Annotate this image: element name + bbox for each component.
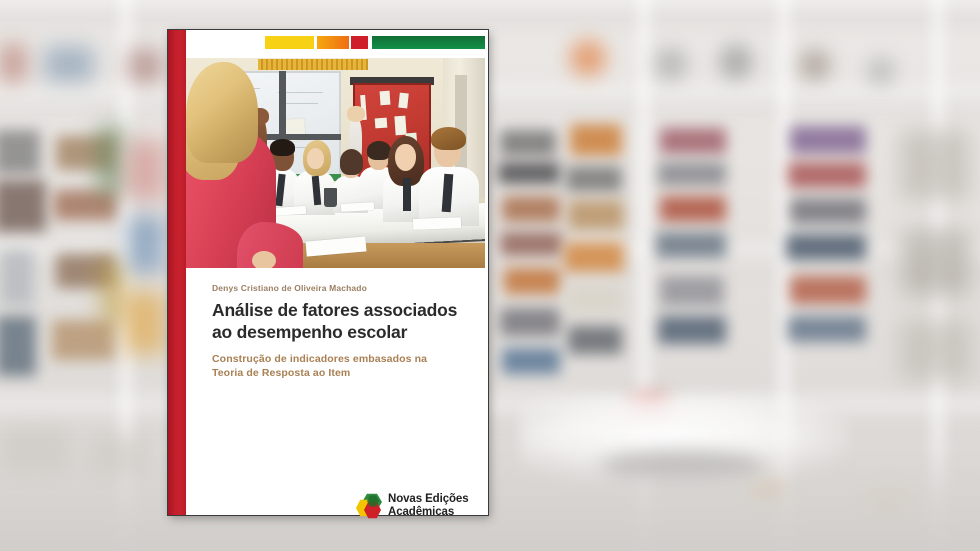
photo-student-3-hair — [340, 149, 363, 174]
photo-desk-mug — [324, 188, 337, 207]
photo-teacher-hand — [252, 251, 276, 268]
bg-book-l2 — [0, 180, 46, 232]
bg-book-l10 — [100, 260, 126, 324]
cover-subtitle-line-1: Construção de indicadores embasados na — [212, 353, 427, 365]
photo-student-2-face — [307, 148, 323, 169]
bg-book-r5 — [660, 276, 724, 306]
bg-item-gray-top-3 — [868, 58, 894, 84]
bg-book-l1 — [0, 130, 40, 174]
bg-book-m1 — [500, 130, 556, 156]
photo-student-6-hair — [431, 127, 465, 150]
product-image-canvas: Denys Cristiano de Oliveira Machado Anál… — [0, 0, 980, 551]
bg-book-m7 — [502, 348, 560, 374]
bg-book-m5 — [504, 268, 560, 294]
bg-book-r12 — [788, 316, 866, 342]
publisher-name-line-2: Acadêmicas — [388, 506, 454, 518]
bg-book-l11 — [126, 140, 166, 200]
cover-subtitle: Construção de indicadores embasados na T… — [212, 352, 466, 380]
photo-paper-2 — [341, 202, 374, 212]
bg-book-r10 — [786, 234, 866, 260]
bg-book-l9 — [96, 126, 126, 196]
bg-book-m9 — [566, 166, 622, 192]
bg-book-m11 — [564, 242, 624, 272]
photo-wall-ruler-strip — [258, 59, 369, 70]
colorbar-segment-green — [372, 36, 485, 49]
bg-book-r6 — [658, 316, 726, 344]
bg-item-left-top-1 — [0, 44, 26, 82]
bg-book-l8 — [52, 320, 114, 360]
colorbar-segment-red — [351, 36, 368, 49]
novas-edicoes-academicas-logo-icon — [356, 493, 382, 519]
blurred-library-background — [0, 0, 980, 551]
bg-book-m4 — [500, 232, 562, 256]
bg-book-r15 — [900, 320, 972, 380]
photo-student-4-hair — [367, 141, 391, 160]
bg-book-r9 — [790, 198, 866, 224]
publisher-imprint: Novas Edições Acadêmicas — [356, 493, 469, 519]
colorbar-segment-white — [186, 36, 265, 49]
bg-item-left-top-3 — [128, 50, 162, 82]
book-spine — [168, 30, 186, 515]
cover-text-block: Denys Cristiano de Oliveira Machado Anál… — [212, 283, 466, 380]
photo-pinned-note-2 — [379, 91, 390, 105]
bg-book-r11 — [790, 276, 866, 304]
bg-book-r7 — [790, 126, 866, 154]
bg-item-left-top-2 — [44, 46, 94, 82]
bg-book-r1 — [660, 128, 726, 154]
colorbar-segment-orange — [317, 36, 349, 49]
bg-book-m12 — [566, 284, 624, 314]
bg-book-m2 — [498, 162, 560, 184]
photo-pinned-note-3 — [398, 92, 408, 108]
shelf-band-1 — [0, 88, 980, 112]
publisher-name-line-1: Novas Edições — [388, 493, 469, 505]
cover-photo-classroom — [186, 58, 485, 268]
bg-book-m6 — [500, 308, 560, 336]
bg-book-r8 — [788, 162, 866, 188]
bg-item-gray-top-1 — [655, 48, 687, 80]
photo-student-1-hair — [270, 139, 295, 156]
cover-title-line-2: ao desempenho escolar — [212, 322, 407, 342]
bg-book-m8 — [570, 124, 622, 156]
bg-book-r2 — [658, 162, 726, 186]
colorbar-segment-yellow — [265, 36, 314, 49]
photo-student-raised-hand-2 — [347, 106, 365, 122]
background-floor — [0, 440, 980, 551]
bg-item-orange-top — [570, 40, 606, 76]
bg-book-l13 — [124, 292, 166, 354]
cover-title: Análise de fatores associados ao desempe… — [212, 300, 466, 343]
bg-book-l12 — [128, 216, 164, 272]
publisher-color-bar — [186, 36, 485, 49]
bg-book-r13 — [900, 130, 970, 200]
bg-book-m3 — [502, 196, 560, 222]
publisher-name: Novas Edições Acadêmicas — [388, 493, 469, 519]
bg-book-r3 — [660, 196, 726, 222]
bg-book-m13 — [568, 326, 622, 354]
bg-item-brown-top — [800, 50, 830, 80]
shelf-band-top — [0, 0, 980, 24]
bg-book-r4 — [656, 232, 726, 258]
bg-item-gray-top-2 — [720, 45, 752, 79]
photo-pinned-note-4 — [375, 118, 388, 129]
photo-paper-3 — [413, 217, 461, 229]
photo-student-5-tie — [403, 178, 411, 212]
bg-book-r14 — [902, 230, 970, 296]
book-cover[interactable]: Denys Cristiano de Oliveira Machado Anál… — [168, 30, 488, 515]
bg-book-l4 — [0, 316, 36, 376]
bg-book-l3 — [0, 250, 34, 306]
cover-author-name: Denys Cristiano de Oliveira Machado — [212, 283, 466, 293]
bg-book-m10 — [568, 200, 624, 230]
cover-title-line-1: Análise de fatores associados — [212, 300, 457, 320]
cover-subtitle-line-2: Teoria de Resposta ao Item — [212, 367, 350, 379]
photo-teacher-hair — [186, 62, 258, 163]
